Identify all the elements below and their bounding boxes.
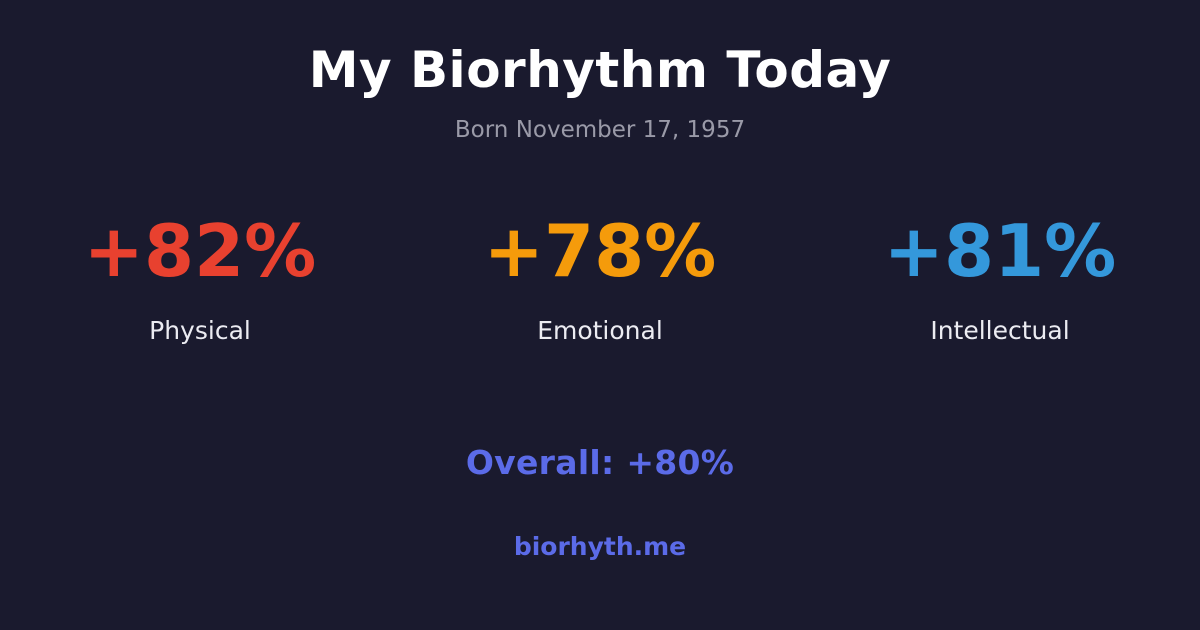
biorhythm-metrics-row: +82% Physical +78% Emotional +81% Intell… [0,215,1200,345]
metric-physical-value: +82% [84,215,317,287]
overall-score: Overall: +80% [466,445,734,481]
metric-physical: +82% Physical [0,215,400,345]
metric-physical-label: Physical [149,317,251,345]
page-title: My Biorhythm Today [0,42,1200,98]
birth-date-subtitle: Born November 17, 1957 [0,98,1200,143]
biorhythm-share-card: My Biorhythm Today Born November 17, 195… [0,0,1200,630]
metric-intellectual-label: Intellectual [930,317,1069,345]
metric-emotional-label: Emotional [537,317,663,345]
site-url-link[interactable]: biorhyth.me [514,533,686,561]
card-header: My Biorhythm Today Born November 17, 195… [0,0,1200,143]
metric-emotional: +78% Emotional [400,215,800,345]
metric-emotional-value: +78% [484,215,717,287]
metric-intellectual: +81% Intellectual [800,215,1200,345]
metric-intellectual-value: +81% [884,215,1117,287]
